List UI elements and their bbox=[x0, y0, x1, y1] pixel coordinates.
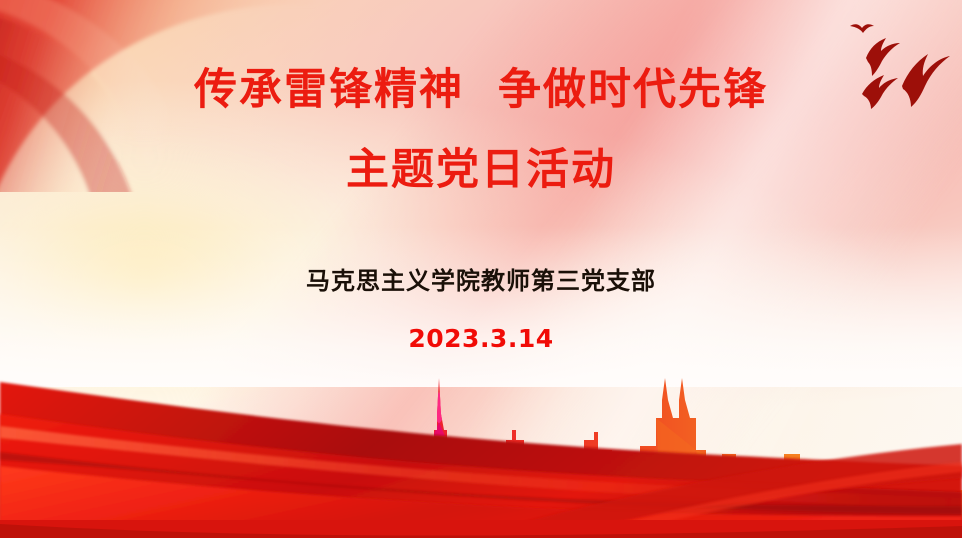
title-text-block: 传承雷锋精神 争做时代先锋 主题党日活动 马克思主义学院教师第三党支部 2023… bbox=[0, 0, 962, 538]
presentation-title-slide: 传承雷锋精神 争做时代先锋 主题党日活动 马克思主义学院教师第三党支部 2023… bbox=[0, 0, 962, 538]
slide-title-line-2: 主题党日活动 bbox=[0, 146, 962, 195]
organization-name: 马克思主义学院教师第三党支部 bbox=[0, 261, 962, 296]
slide-date: 2023.3.14 bbox=[0, 324, 962, 353]
slide-title-line-1: 传承雷锋精神 争做时代先锋 bbox=[0, 66, 962, 115]
